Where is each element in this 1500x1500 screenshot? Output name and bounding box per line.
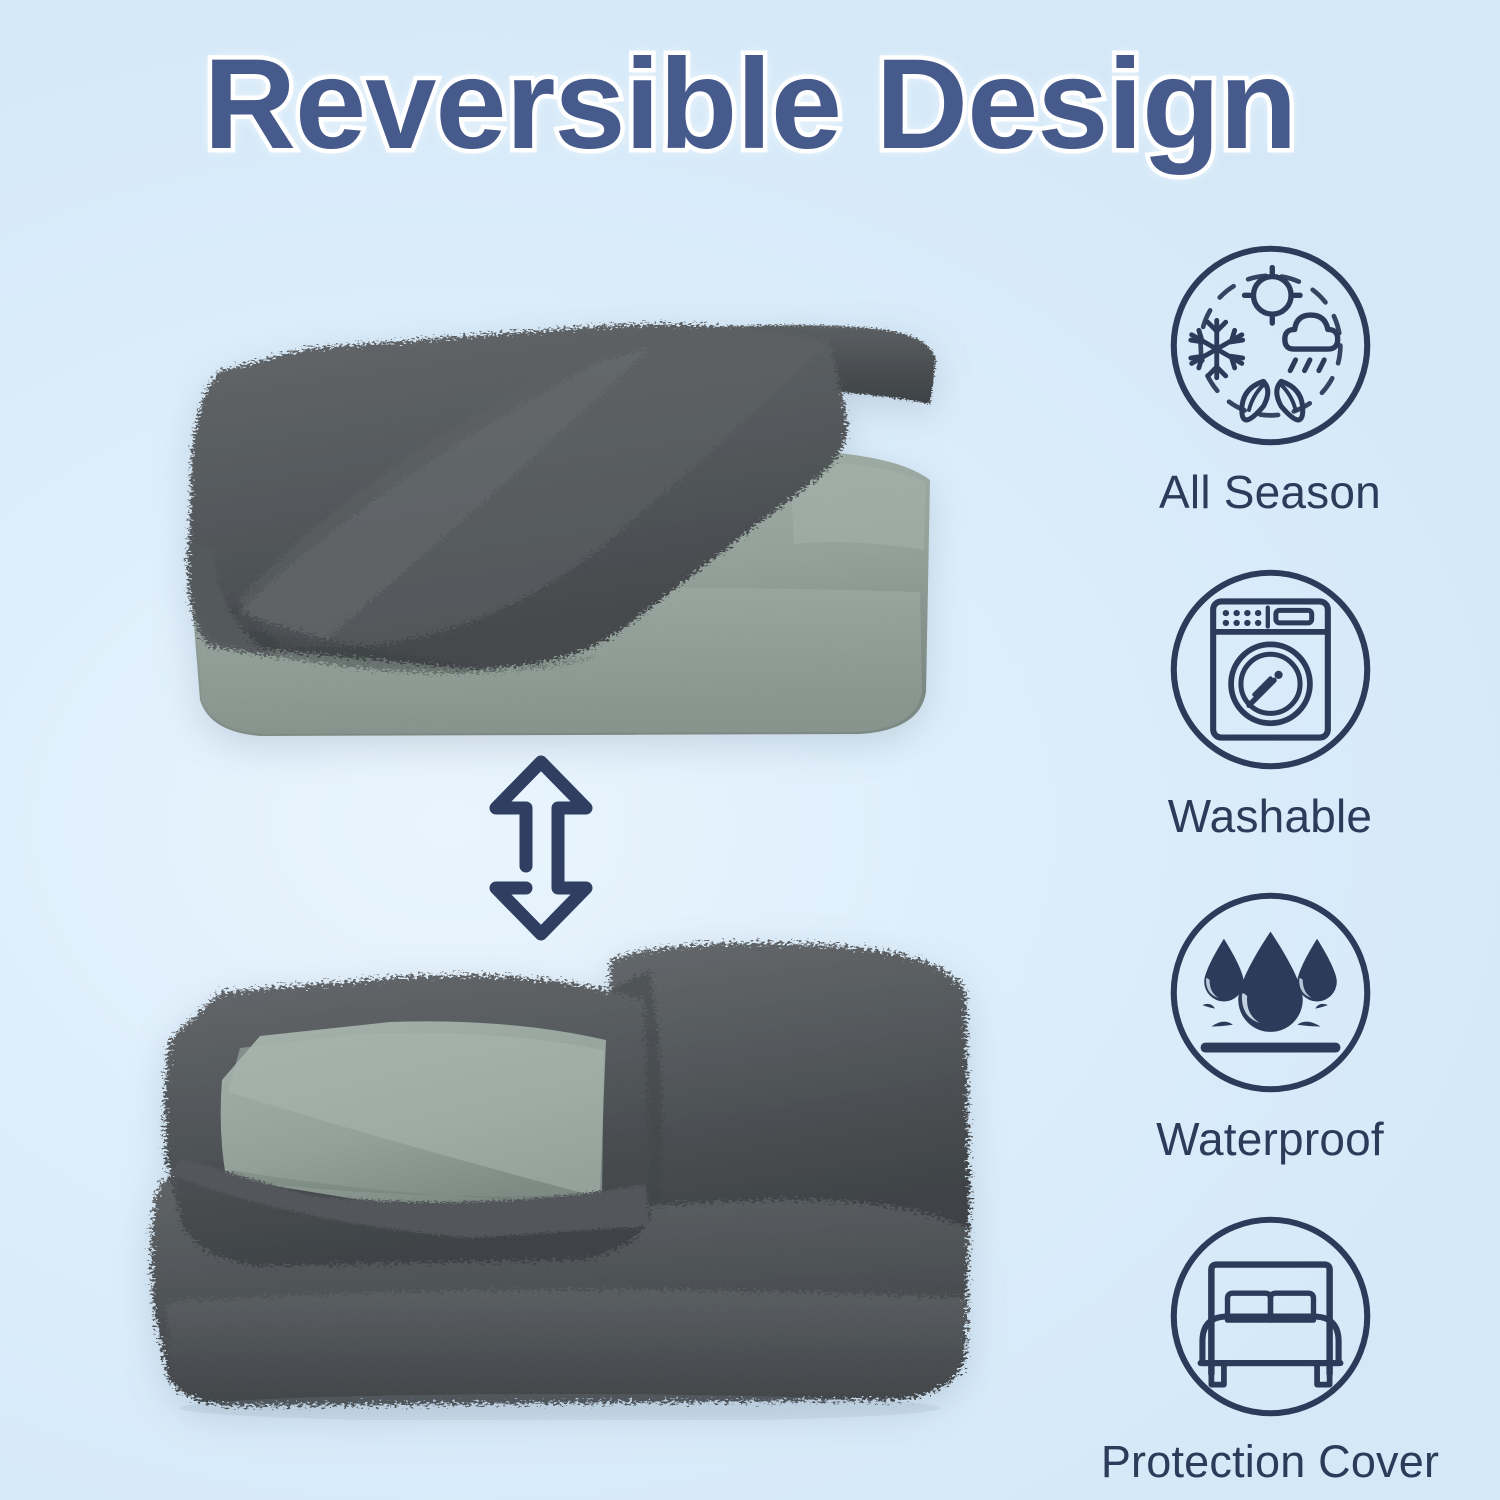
large-droplet xyxy=(1238,932,1303,1032)
feature-label-waterproof: Waterproof xyxy=(1156,1112,1384,1166)
feature-washable: Washable xyxy=(1055,562,1485,843)
page-title: Reversible Design xyxy=(0,36,1500,174)
fleece-inner-fold xyxy=(221,1021,606,1208)
feature-label-washable: Washable xyxy=(1168,789,1372,843)
feature-all-season: All Season xyxy=(1055,238,1485,519)
feature-waterproof: Waterproof xyxy=(1055,885,1485,1166)
washing-machine-icon xyxy=(1163,562,1378,777)
bed-icon xyxy=(1163,1209,1378,1424)
feature-label-all-season: All Season xyxy=(1159,465,1381,519)
blanket-top-fleece-side xyxy=(130,300,960,750)
feature-label-protection-cover: Protection Cover xyxy=(1101,1436,1439,1488)
reversible-arrow-icon xyxy=(466,748,646,948)
surface-bar xyxy=(1200,1043,1340,1053)
sherpa-right-roll xyxy=(607,943,970,1230)
feature-list: All Season xyxy=(1055,238,1485,1488)
feature-protection-cover: Protection Cover xyxy=(1055,1209,1485,1488)
blanket-bottom-sherpa-side xyxy=(110,930,990,1420)
all-season-icon xyxy=(1163,238,1378,453)
water-droplets-icon xyxy=(1163,885,1378,1100)
infographic-page: Reversible Design xyxy=(0,0,1500,1500)
